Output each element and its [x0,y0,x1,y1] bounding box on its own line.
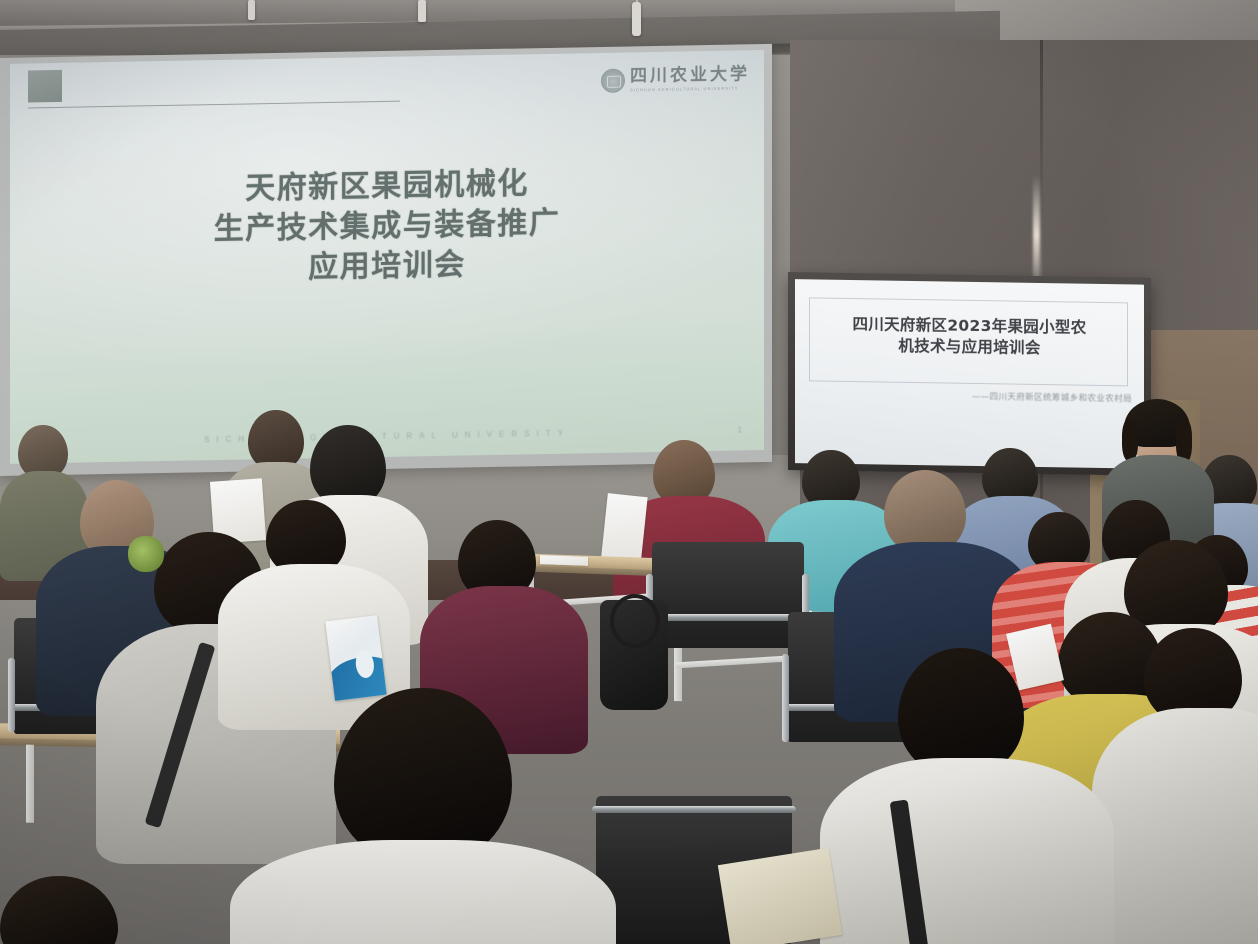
audience-member [1108,628,1258,944]
slide-header-rule [28,101,400,109]
hair-ornament [128,536,164,572]
audience-member [0,876,180,944]
wall-monitor: 四川天府新区2023年果园小型农 机技术与应用培训会 ——四川天府新区统筹城乡和… [788,272,1151,476]
slide-title: 天府新区果园机械化 生产技术集成与装备推广 应用培训会 [10,160,764,293]
wall-monitor-surface: 四川天府新区2023年果园小型农 机技术与应用培训会 ——四川天府新区统筹城乡和… [795,279,1144,468]
backpack-on-floor [600,600,668,710]
conference-room-photo: 四川农业大学 SICHUAN AGRICULTURAL UNIVERSITY 天… [0,0,1258,944]
projection-screen: 四川农业大学 SICHUAN AGRICULTURAL UNIVERSITY 天… [0,44,772,476]
presenter-hair-side-left [1122,419,1138,461]
university-logo-en: SICHUAN AGRICULTURAL UNIVERSITY [630,85,739,92]
audience-member [268,688,568,944]
slide-decor-square [28,70,62,103]
printed-handout [718,848,842,944]
audience-member [846,648,1076,944]
university-logo-cn: 四川农业大学 [630,66,750,85]
monitor-slide-subtitle: ——四川天府新区统筹城乡和农业农村局 [811,387,1132,404]
chair [652,542,804,648]
slide-page-number: 1 [738,425,742,434]
ceiling-spotlight [248,0,255,20]
university-seal-icon [601,69,625,93]
monitor-slide-title: 四川天府新区2023年果园小型农 机技术与应用培训会 [811,313,1128,360]
university-logo: 四川农业大学 SICHUAN AGRICULTURAL UNIVERSITY [601,66,750,93]
ceiling-spotlight [632,2,641,36]
ceiling-spotlight [418,0,426,22]
projection-screen-surface: 四川农业大学 SICHUAN AGRICULTURAL UNIVERSITY 天… [10,50,764,464]
